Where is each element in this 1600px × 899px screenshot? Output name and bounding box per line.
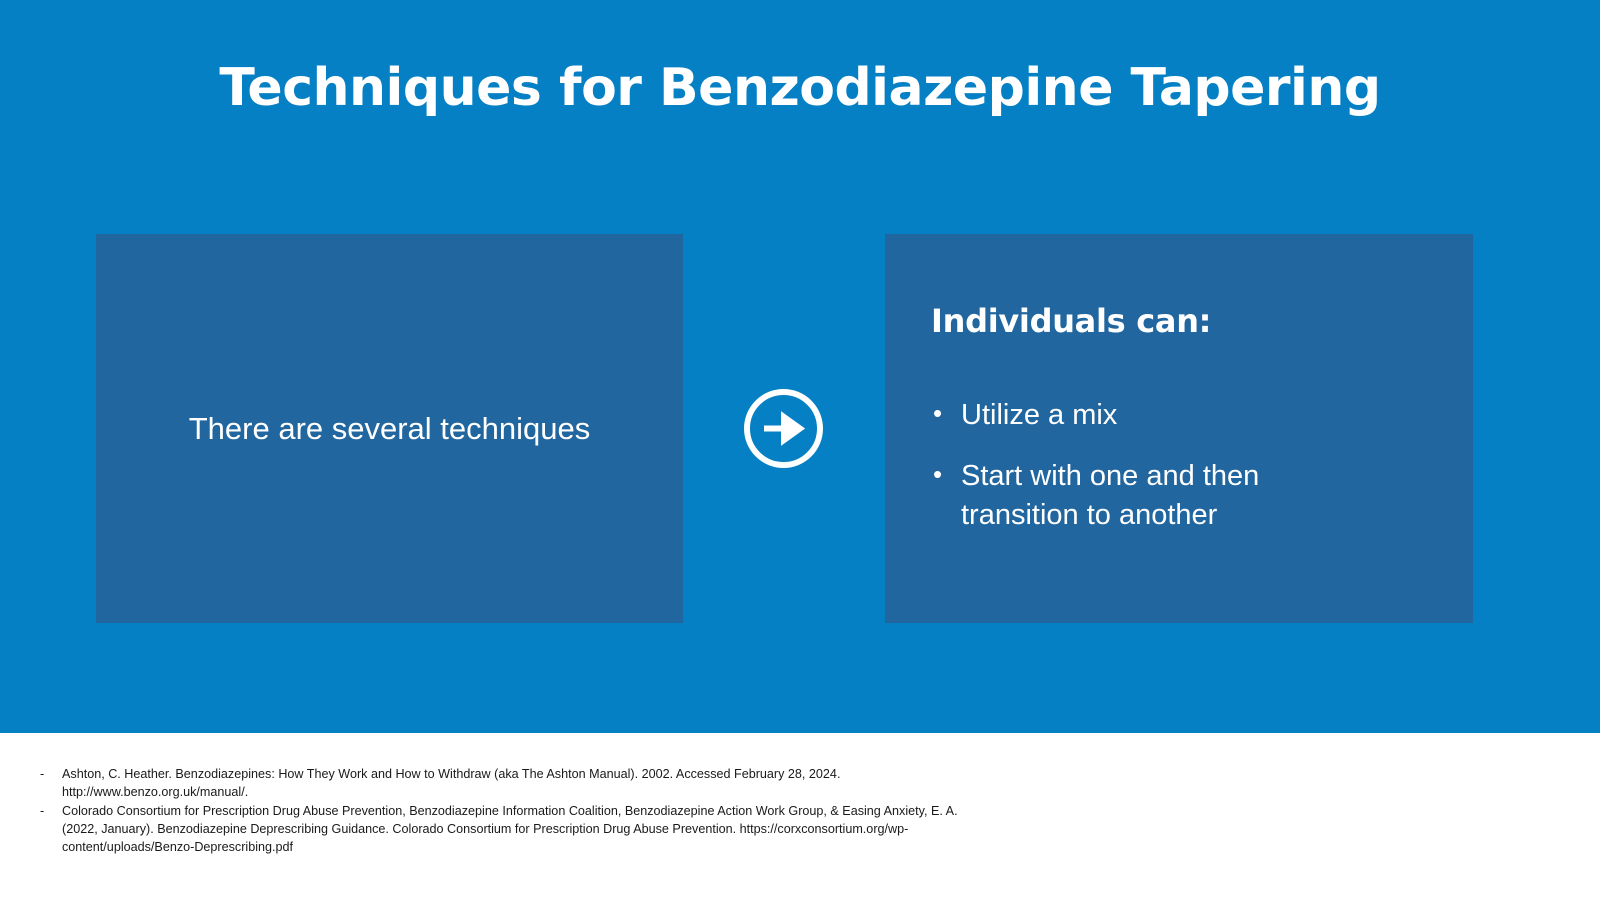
bullet-icon: • [933, 457, 942, 492]
reference-marker: - [40, 765, 62, 802]
reference-item: - Ashton, C. Heather. Benzodiazepines: H… [40, 765, 960, 802]
left-panel-text: There are several techniques [96, 234, 683, 623]
right-panel-heading: Individuals can: [931, 302, 1453, 340]
arrow-right-circle-icon [742, 387, 825, 470]
footer-bar: - Ashton, C. Heather. Benzodiazepines: H… [0, 733, 1600, 899]
reference-item: - Colorado Consortium for Prescription D… [40, 802, 960, 857]
list-item: • Utilize a mix [931, 396, 1361, 435]
reference-marker: - [40, 802, 62, 857]
list-item-label: Utilize a mix [961, 399, 1117, 431]
slide: Techniques for Benzodiazepine Tapering T… [0, 0, 1600, 899]
references-block: - Ashton, C. Heather. Benzodiazepines: H… [40, 765, 960, 856]
list-item-label: Start with one and then transition to an… [961, 460, 1259, 531]
reference-text: Ashton, C. Heather. Benzodiazepines: How… [62, 765, 960, 802]
right-panel-bullet-list: • Utilize a mix • Start with one and the… [931, 396, 1453, 557]
list-item: • Start with one and then transition to … [931, 457, 1361, 535]
page-title: Techniques for Benzodiazepine Tapering [0, 60, 1600, 117]
left-content-panel: There are several techniques [96, 234, 683, 623]
reference-text: Colorado Consortium for Prescription Dru… [62, 802, 960, 857]
right-content-panel: Individuals can: • Utilize a mix • Start… [885, 234, 1473, 623]
bullet-icon: • [933, 396, 942, 431]
right-panel-inner: Individuals can: • Utilize a mix • Start… [931, 234, 1453, 623]
